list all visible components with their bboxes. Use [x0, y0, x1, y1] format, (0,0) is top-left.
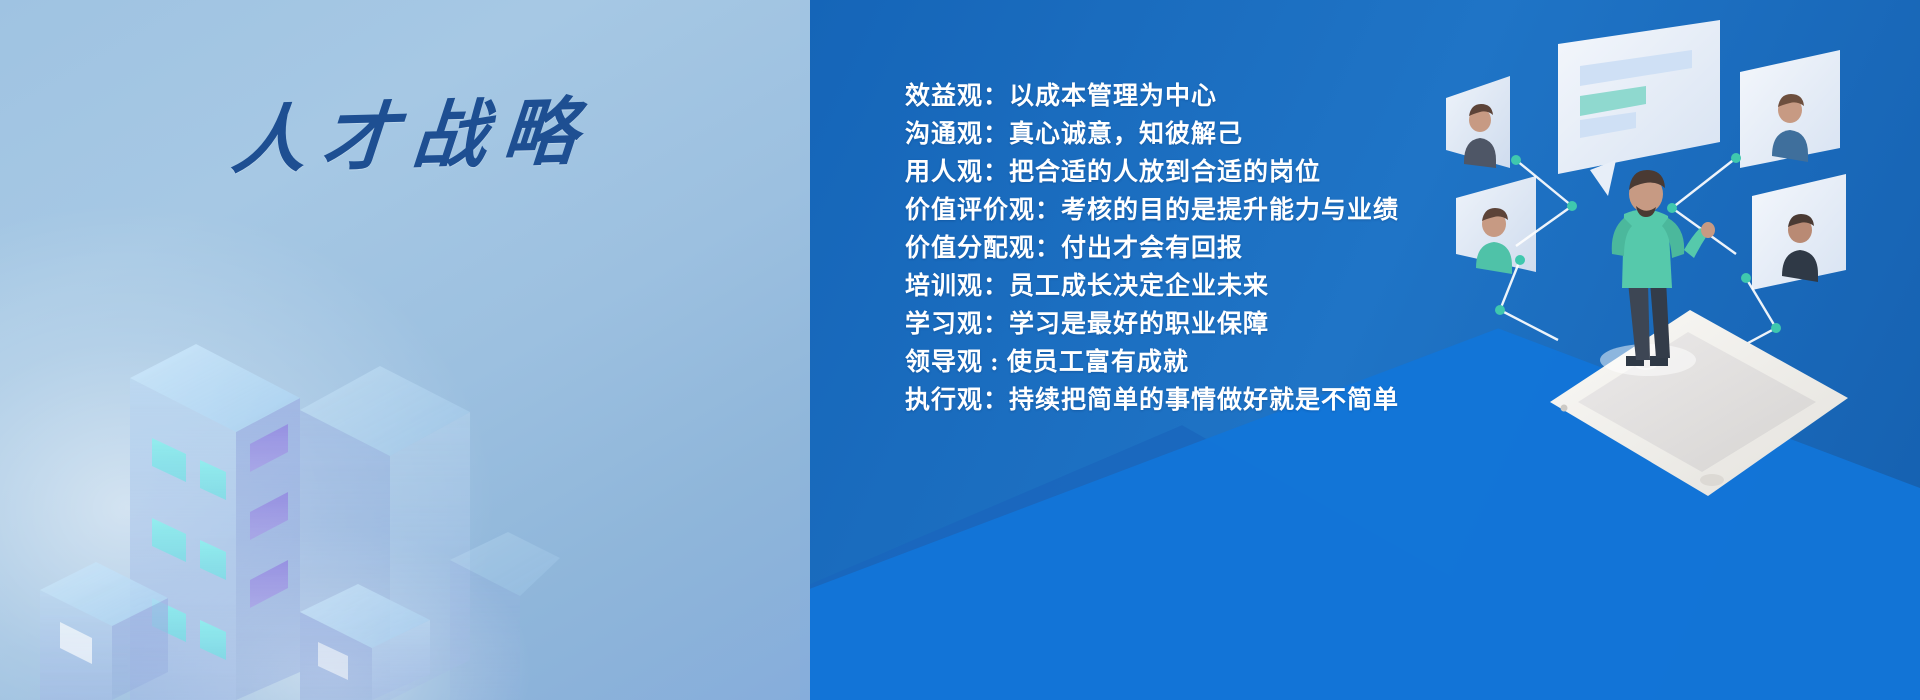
avatar-card-top-left — [1446, 76, 1510, 168]
chat-bubble-icon — [1558, 20, 1720, 196]
avatar-card-top-right — [1740, 50, 1840, 168]
page-title: 人才战略 — [212, 72, 597, 189]
title-block: 人才战略 — [0, 0, 810, 260]
avatar-card-bottom-right — [1752, 174, 1846, 290]
left-panel: 人才战略 — [0, 0, 810, 700]
slide-canvas: 人才战略 效益观：以成本管理为中心 沟通观：真心诚意，知彼解己 用人观：把合适的… — [0, 0, 1920, 700]
right-panel: 效益观：以成本管理为中心 沟通观：真心诚意，知彼解己 用人观：把合适的人放到合适… — [810, 0, 1920, 700]
smartphone-icon — [1550, 310, 1848, 496]
isometric-teamwork-illustration — [1440, 10, 1910, 530]
isometric-buildings-icon — [0, 260, 560, 700]
